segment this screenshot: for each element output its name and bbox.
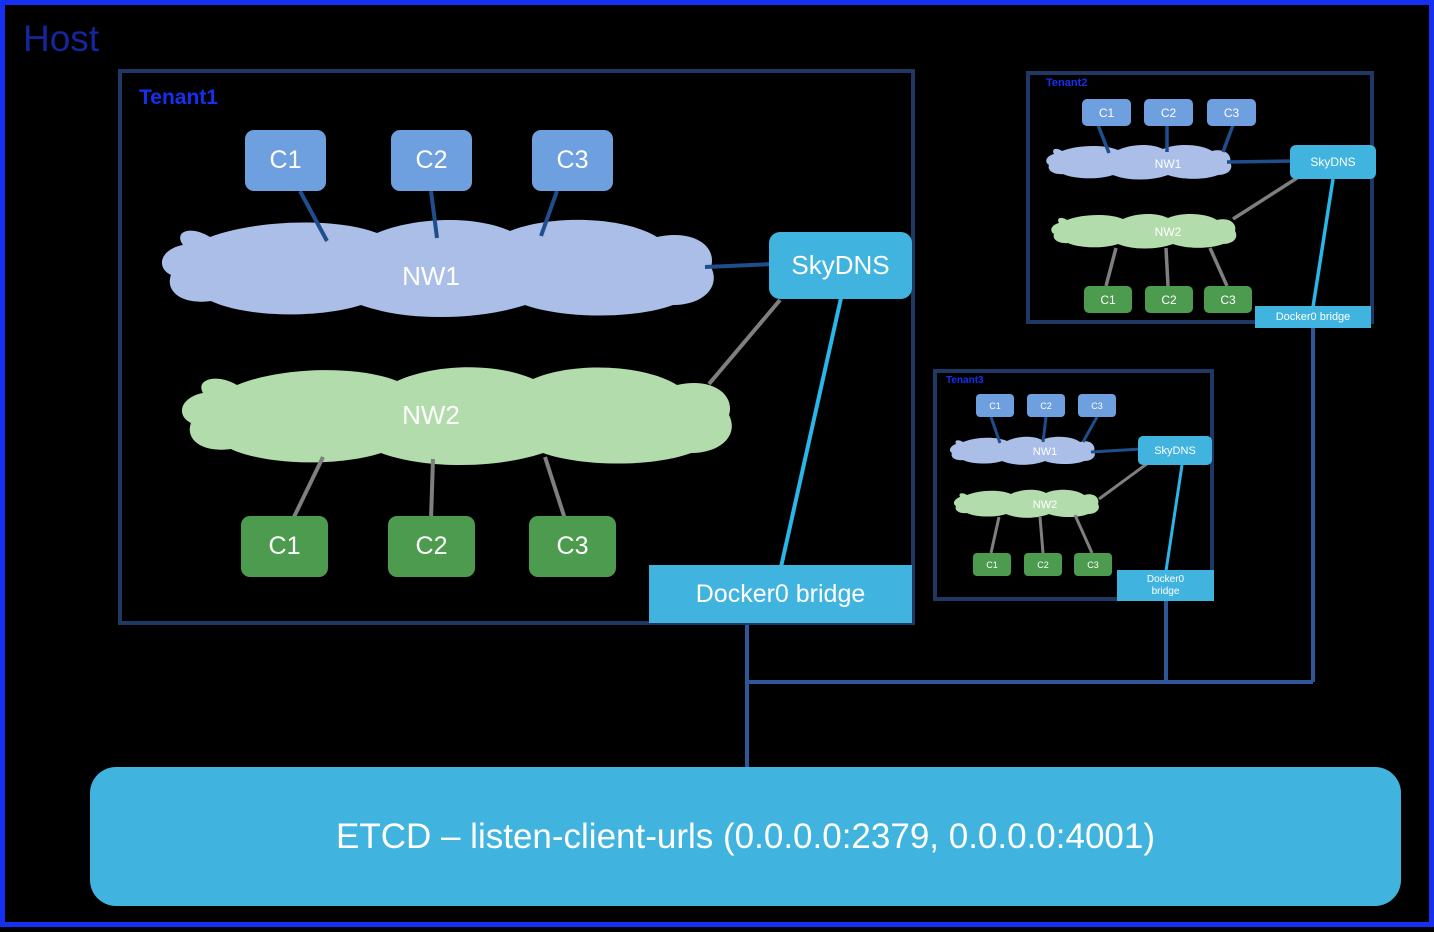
bridge-label: Docker0 bridge (696, 580, 866, 609)
tenant3-bottom-container-c3[interactable]: C3 (1074, 553, 1112, 576)
tenant3-bottom-container-c2[interactable]: C2 (1024, 553, 1062, 576)
tenant3-bottom-container-c1[interactable]: C1 (973, 553, 1011, 576)
container-label: C1 (1100, 293, 1115, 307)
container-label: C3 (1220, 293, 1235, 307)
tenant3-skydns[interactable]: SkyDNS (1138, 436, 1212, 465)
tenant2-bottom-container-c3[interactable]: C3 (1204, 286, 1252, 313)
container-label: C2 (1040, 401, 1052, 411)
skydns-label: SkyDNS (1310, 155, 1355, 169)
container-label: C1 (989, 401, 1001, 411)
tenant2-docker0-bridge[interactable]: Docker0 bridge (1255, 306, 1371, 328)
tenant1-box (118, 69, 915, 625)
container-label: C3 (1091, 401, 1103, 411)
etcd-label: ETCD – listen-client-urls (0.0.0.0:2379,… (336, 817, 1155, 857)
container-label: C2 (1161, 293, 1176, 307)
tenant3-docker0-bridge[interactable]: Docker0 bridge (1117, 570, 1214, 601)
tenant1-skydns[interactable]: SkyDNS (769, 232, 912, 299)
tenant1-bottom-container-c2[interactable]: C2 (388, 516, 475, 577)
tenant1-top-container-c1[interactable]: C1 (245, 130, 326, 191)
container-label: C3 (1224, 106, 1239, 120)
tenant2-top-container-c1[interactable]: C1 (1082, 99, 1131, 126)
container-label: C2 (1037, 560, 1049, 570)
tenant3-top-container-c3[interactable]: C3 (1078, 394, 1116, 417)
tenant1-label: Tenant1 (139, 86, 218, 110)
tenant1-top-container-c2[interactable]: C2 (391, 130, 472, 191)
tenant3-label: Tenant3 (946, 375, 984, 386)
tenant2-top-container-c2[interactable]: C2 (1144, 99, 1193, 126)
bridge-label: Docker0 bridge (1142, 574, 1190, 598)
tenant2-bottom-container-c2[interactable]: C2 (1145, 286, 1193, 313)
container-label: C1 (270, 146, 302, 175)
container-label: C2 (1161, 106, 1176, 120)
tenant1-bottom-container-c3[interactable]: C3 (529, 516, 616, 577)
container-label: C1 (986, 560, 998, 570)
container-label: C3 (1087, 560, 1099, 570)
container-label: C1 (269, 532, 301, 561)
tenant2-label: Tenant2 (1046, 77, 1087, 89)
container-label: C3 (557, 146, 589, 175)
container-label: C3 (557, 532, 589, 561)
host-label: Host (23, 19, 99, 59)
bridge-label: Docker0 bridge (1276, 311, 1351, 323)
tenant2-bottom-container-c1[interactable]: C1 (1084, 286, 1132, 313)
tenant1-top-container-c3[interactable]: C3 (532, 130, 613, 191)
etcd-box[interactable]: ETCD – listen-client-urls (0.0.0.0:2379,… (90, 767, 1401, 906)
tenant2-top-container-c3[interactable]: C3 (1207, 99, 1256, 126)
tenant3-top-container-c2[interactable]: C2 (1027, 394, 1065, 417)
tenant2-skydns[interactable]: SkyDNS (1290, 145, 1376, 179)
tenant3-top-container-c1[interactable]: C1 (976, 394, 1014, 417)
container-label: C2 (416, 532, 448, 561)
tenant2-box (1026, 71, 1374, 324)
tenant1-bottom-container-c1[interactable]: C1 (241, 516, 328, 577)
skydns-label: SkyDNS (791, 250, 889, 281)
skydns-label: SkyDNS (1154, 445, 1196, 457)
host-boundary: Host (0, 0, 1434, 927)
container-label: C2 (416, 146, 448, 175)
container-label: C1 (1099, 106, 1114, 120)
tenant1-docker0-bridge[interactable]: Docker0 bridge (649, 565, 912, 623)
